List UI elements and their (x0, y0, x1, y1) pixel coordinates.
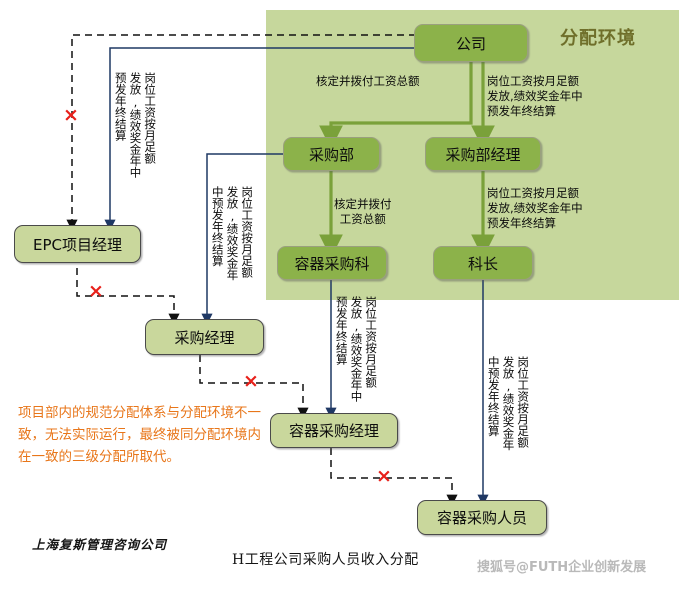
node-container-purchasing-staff[interactable]: 容器采购人员 (417, 500, 547, 535)
label-to-purchasing-manager: 岗位工资按月足额 发放,绩效奖金年 中预发年终结算 (210, 186, 254, 314)
label-company-to-dept: 核定并拨付工资总额 (316, 74, 420, 89)
label-dept-to-section: 核定并拨付 工资总额 (334, 197, 392, 227)
blocked-mark-2: × (88, 282, 104, 301)
label-to-container-purchasing-manager: 岗位工资按月足额 发放,绩效奖金年中 预发年终结算 (334, 296, 378, 412)
node-container-purchasing-section[interactable]: 容器采购科 (277, 246, 387, 280)
node-company[interactable]: 公司 (414, 24, 528, 62)
node-container-purchasing-manager[interactable]: 容器采购经理 (270, 413, 398, 448)
annotation-note: 项目部内的规范分配体系与分配环境不一致，无法实际运行，最终被同分配环境内在一致的… (18, 403, 263, 469)
node-purchasing-manager[interactable]: 采购经理 (145, 319, 264, 355)
node-epc-project-manager[interactable]: EPC项目经理 (14, 225, 141, 263)
node-purchasing-dept[interactable]: 采购部 (283, 137, 380, 171)
diagram-caption: H工程公司采购人员收入分配 (232, 549, 419, 569)
label-dept-manager-to-chief: 岗位工资按月足额 发放,绩效奖金年中 预发年终结算 (487, 186, 583, 232)
label-to-epc-project-manager: 岗位工资按月足额 发放,绩效奖金年中 预发年终结算 (113, 72, 157, 212)
watermark: 搜狐号@FUTH企业创新发展 (477, 556, 646, 575)
blocked-mark-4: × (376, 467, 392, 486)
label-to-container-purchasing-staff: 岗位工资按月足额 发放,绩效奖金年 中预发年终结算 (486, 356, 530, 496)
label-company-to-dept-manager: 岗位工资按月足额 发放,绩效奖金年中 预发年终结算 (487, 74, 583, 120)
diagram-canvas: 分配环境 (0, 0, 679, 590)
node-purchasing-dept-manager[interactable]: 采购部经理 (425, 137, 541, 171)
blocked-mark-3: × (243, 372, 259, 391)
firm-name: 上海复斯管理咨询公司 (32, 534, 167, 553)
blocked-mark-1: × (63, 106, 79, 125)
node-section-chief[interactable]: 科长 (433, 246, 533, 280)
